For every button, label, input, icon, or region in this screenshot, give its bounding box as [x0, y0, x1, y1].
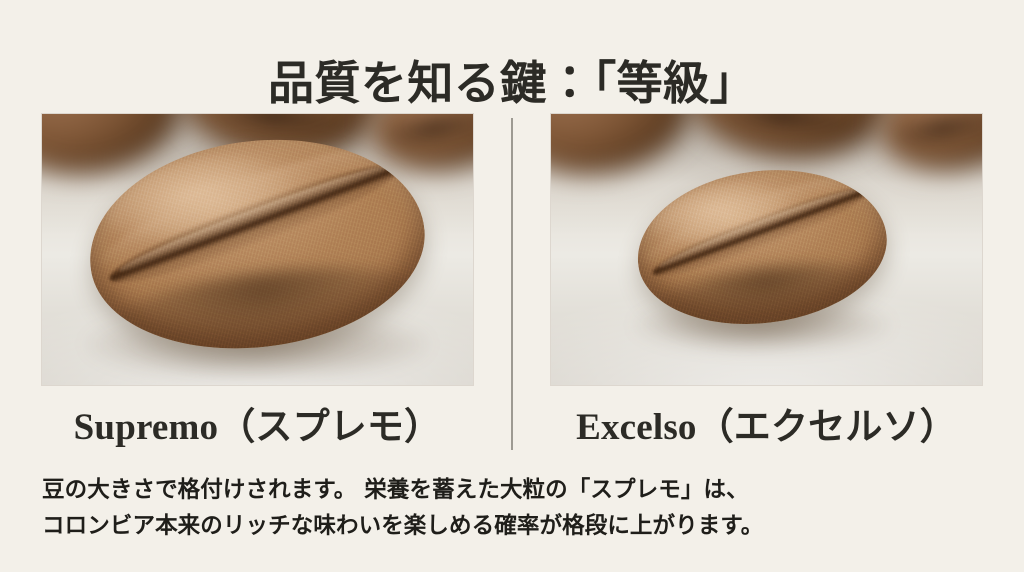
comparison-panel-excelso: Excelso（エクセルソ）	[551, 114, 982, 450]
comparison-panel-supremo: Supremo（スプレモ）	[42, 114, 473, 450]
body-copy-line-2: コロンビア本来のリッチな味わいを楽しめる確率が格段に上がります。	[42, 508, 972, 544]
page-title: 品質を知る鍵：「等級」	[0, 59, 1024, 110]
slide-canvas: 品質を知る鍵：「等級」	[0, 0, 1024, 572]
coffee-bean-photo-excelso	[551, 114, 982, 385]
vertical-divider	[511, 118, 513, 450]
coffee-bean-photo-supremo	[42, 114, 473, 385]
caption-excelso: Excelso（エクセルソ）	[576, 407, 957, 450]
body-copy: 豆の大きさで格付けされます。 栄養を蓄えた大粒の「スプレモ」は、 コロンビア本来…	[42, 472, 972, 545]
caption-supremo: Supremo（スプレモ）	[74, 407, 442, 450]
body-copy-line-1: 豆の大きさで格付けされます。 栄養を蓄えた大粒の「スプレモ」は、	[42, 472, 972, 508]
